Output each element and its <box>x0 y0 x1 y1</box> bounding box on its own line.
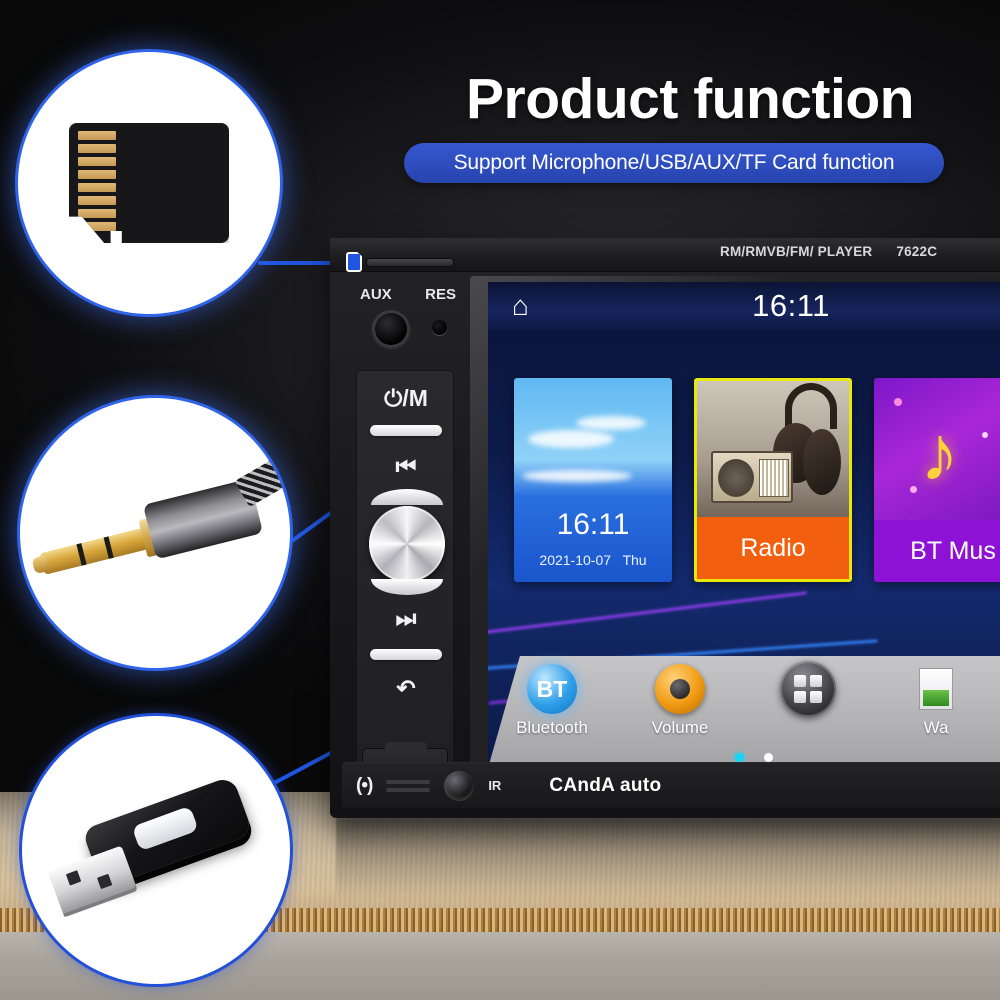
status-clock: 16:11 <box>488 288 1000 324</box>
tile-date-value: 2021-10-07 <box>539 552 611 568</box>
dock-label-volume: Volume <box>616 718 744 738</box>
aux-input-jack[interactable] <box>372 310 410 348</box>
page-indicator <box>488 753 1000 762</box>
dock-item-volume[interactable]: Volume <box>616 660 744 738</box>
tf-card-slot[interactable] <box>366 258 454 267</box>
microsd-contacts <box>78 131 116 235</box>
ir-label: IR <box>488 778 501 793</box>
screen-bezel: ⌂ 16:11 16:11 2021-10-07 Thu <box>470 276 1000 774</box>
tile-bt-music[interactable]: ♪ BT Mus <box>874 378 1000 582</box>
unit-bottom-strip: (•) IR CAndA auto <box>342 762 1000 808</box>
aux-plug-icon <box>20 445 290 622</box>
speaker-grille <box>386 776 430 796</box>
power-icon: ⏻/M <box>357 387 455 410</box>
dock-items: BT Bluetooth Volume <box>488 656 1000 768</box>
aux-label: AUX <box>360 286 392 303</box>
tile-clock-time: 16:11 <box>514 508 672 542</box>
subtitle-badge: Support Microphone/USB/AUX/TF Card funct… <box>404 143 944 183</box>
bluetooth-badge: BT <box>537 676 568 703</box>
car-stereo-head-unit: RM/RMVB/FM/ PLAYER 7622C AUX RES ⏻/M ⏮ <box>330 238 1000 818</box>
tile-weekday-value: Thu <box>622 552 646 568</box>
ir-receiver-icon <box>444 771 474 801</box>
dock-label-wallpaper: Wa <box>872 718 1000 738</box>
tile-bt-label: BT Mus <box>874 520 1000 582</box>
power-mode-button[interactable]: ⏻/M <box>357 387 455 410</box>
tile-radio-label: Radio <box>697 517 849 579</box>
dock-item-bluetooth[interactable]: BT Bluetooth <box>488 660 616 738</box>
model-number: 7622C <box>896 244 937 259</box>
brand-logo: CAndA auto <box>549 775 661 797</box>
radio-photo <box>697 381 849 523</box>
wallpaper-streak-1 <box>488 591 807 635</box>
previous-track-button[interactable]: ⏮ <box>357 455 455 478</box>
divider-bar-1 <box>370 425 442 436</box>
knob-ring-bottom <box>371 579 443 595</box>
dock-item-apps[interactable] <box>744 660 872 718</box>
microphone-icon: (•) <box>356 775 372 797</box>
tile-clock-date: 2021-10-07 Thu <box>514 552 672 568</box>
page-dot-1[interactable] <box>735 753 744 762</box>
divider-bar-2 <box>370 649 442 660</box>
reset-pinhole[interactable] <box>432 320 447 335</box>
callout-usb-drive <box>22 716 290 984</box>
scene: Product function Support Microphone/USB/… <box>0 0 1000 1000</box>
button-column: ⏻/M ⏮ ⏭ ↶ <box>356 370 454 770</box>
speaker-icon <box>655 664 705 714</box>
microsd-card-icon <box>69 123 229 243</box>
apps-grid-icon <box>780 661 836 717</box>
previous-icon: ⏮ <box>357 455 455 478</box>
format-support-text: RM/RMVB/FM/ PLAYER <box>720 244 872 259</box>
tile-radio[interactable]: Radio <box>694 378 852 582</box>
page-dot-2[interactable] <box>764 753 773 762</box>
next-icon: ⏭ <box>357 607 455 630</box>
back-arrow-icon: ↶ <box>357 677 455 700</box>
unit-reflection <box>336 818 1000 914</box>
music-note-icon: ♪ <box>920 414 959 492</box>
tf-card-slot-marker-icon <box>346 252 362 272</box>
res-label: RES <box>425 286 456 303</box>
vintage-radio-image <box>711 451 793 503</box>
jack-labels: AUX RES <box>354 286 462 303</box>
knob-ring-top <box>371 489 443 505</box>
bluetooth-icon: BT <box>527 664 577 714</box>
tile-row: 16:11 2021-10-07 Thu <box>514 378 1000 582</box>
volume-knob[interactable] <box>369 506 445 582</box>
next-track-button[interactable]: ⏭ <box>357 607 455 630</box>
page-title: Product function <box>410 66 970 132</box>
dock-item-wallpaper[interactable]: Wa <box>872 660 1000 738</box>
back-button[interactable]: ↶ <box>357 677 455 700</box>
touchscreen[interactable]: ⌂ 16:11 16:11 2021-10-07 Thu <box>488 282 1000 768</box>
callout-aux-cable <box>20 398 290 668</box>
subtitle-text: Support Microphone/USB/AUX/TF Card funct… <box>454 151 895 175</box>
usb-flash-drive-icon <box>27 754 284 945</box>
model-label: RM/RMVB/FM/ PLAYER 7622C <box>720 244 1000 259</box>
tile-clock[interactable]: 16:11 2021-10-07 Thu <box>514 378 672 582</box>
dock-label-bluetooth: Bluetooth <box>488 718 616 738</box>
control-panel: AUX RES ⏻/M ⏮ ⏭ <box>348 250 460 790</box>
callout-tf-card <box>18 52 280 314</box>
status-bar: ⌂ 16:11 <box>488 282 1000 330</box>
wallpaper-icon <box>919 668 953 710</box>
